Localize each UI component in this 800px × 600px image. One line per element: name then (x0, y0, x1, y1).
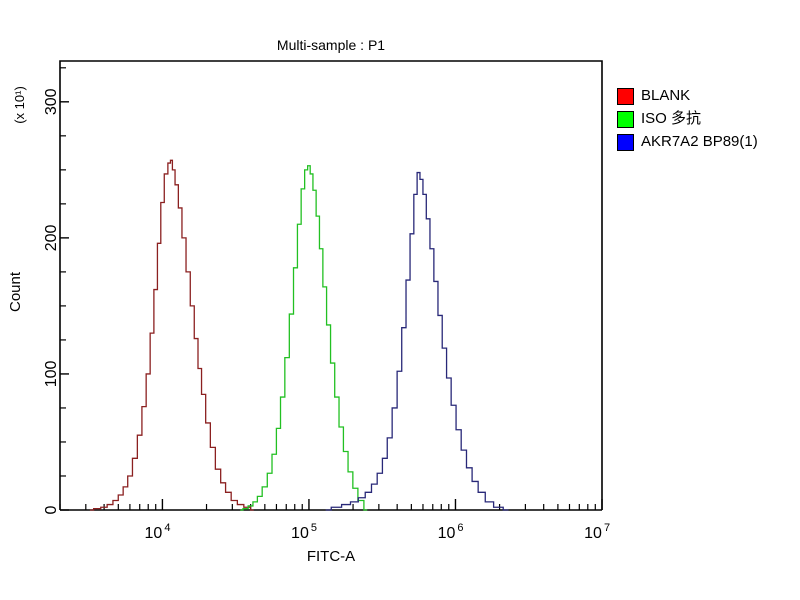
svg-text:4: 4 (164, 522, 170, 534)
legend-item-akr7a2[interactable]: AKR7A2 BP89(1) (617, 131, 795, 153)
legend-item-blank[interactable]: BLANK (617, 85, 795, 107)
plot-frame (60, 61, 602, 510)
svg-text:5: 5 (311, 522, 317, 534)
x-tick-label: 104 (145, 522, 171, 542)
y-tick-label: 100 (43, 360, 60, 387)
svg-text:7: 7 (604, 522, 610, 534)
histogram-trace (90, 160, 254, 510)
x-tick-label: 105 (291, 522, 317, 542)
legend-swatch-akr7a2 (617, 134, 634, 151)
legend-swatch-iso (617, 111, 634, 128)
x-tick-label: 107 (584, 522, 610, 542)
x-axis-ticks: 104105106107 (60, 499, 610, 542)
y-axis-title: Count (7, 271, 24, 312)
histogram-traces (90, 160, 509, 510)
flow-cytometry-histogram: Multi-sample : P1 (x 10¹) Count FITC-A 0… (0, 0, 800, 600)
svg-text:6: 6 (457, 522, 463, 534)
legend-label-blank: BLANK (641, 87, 690, 105)
legend-item-iso[interactable]: ISO 多抗 (617, 108, 795, 130)
svg-text:10: 10 (145, 525, 163, 542)
y-axis-ticks: 0100200300 (43, 68, 69, 515)
x-tick-label: 106 (438, 522, 464, 542)
y-axis-unit-label: (x 10¹) (12, 86, 27, 124)
legend-label-akr7a2: AKR7A2 BP89(1) (641, 133, 758, 151)
y-tick-label: 300 (43, 88, 60, 115)
y-tick-label: 0 (43, 505, 60, 514)
x-axis-title: FITC-A (307, 548, 355, 565)
histogram-trace (240, 166, 367, 510)
legend-swatch-blank (617, 88, 634, 105)
histogram-trace (326, 173, 509, 510)
svg-text:10: 10 (438, 525, 456, 542)
legend-label-iso: ISO 多抗 (641, 110, 701, 128)
y-tick-label: 200 (43, 224, 60, 251)
svg-text:10: 10 (584, 525, 602, 542)
legend: BLANK ISO 多抗 AKR7A2 BP89(1) (617, 85, 795, 154)
page-title: Multi-sample : P1 (277, 37, 385, 53)
svg-text:10: 10 (291, 525, 309, 542)
